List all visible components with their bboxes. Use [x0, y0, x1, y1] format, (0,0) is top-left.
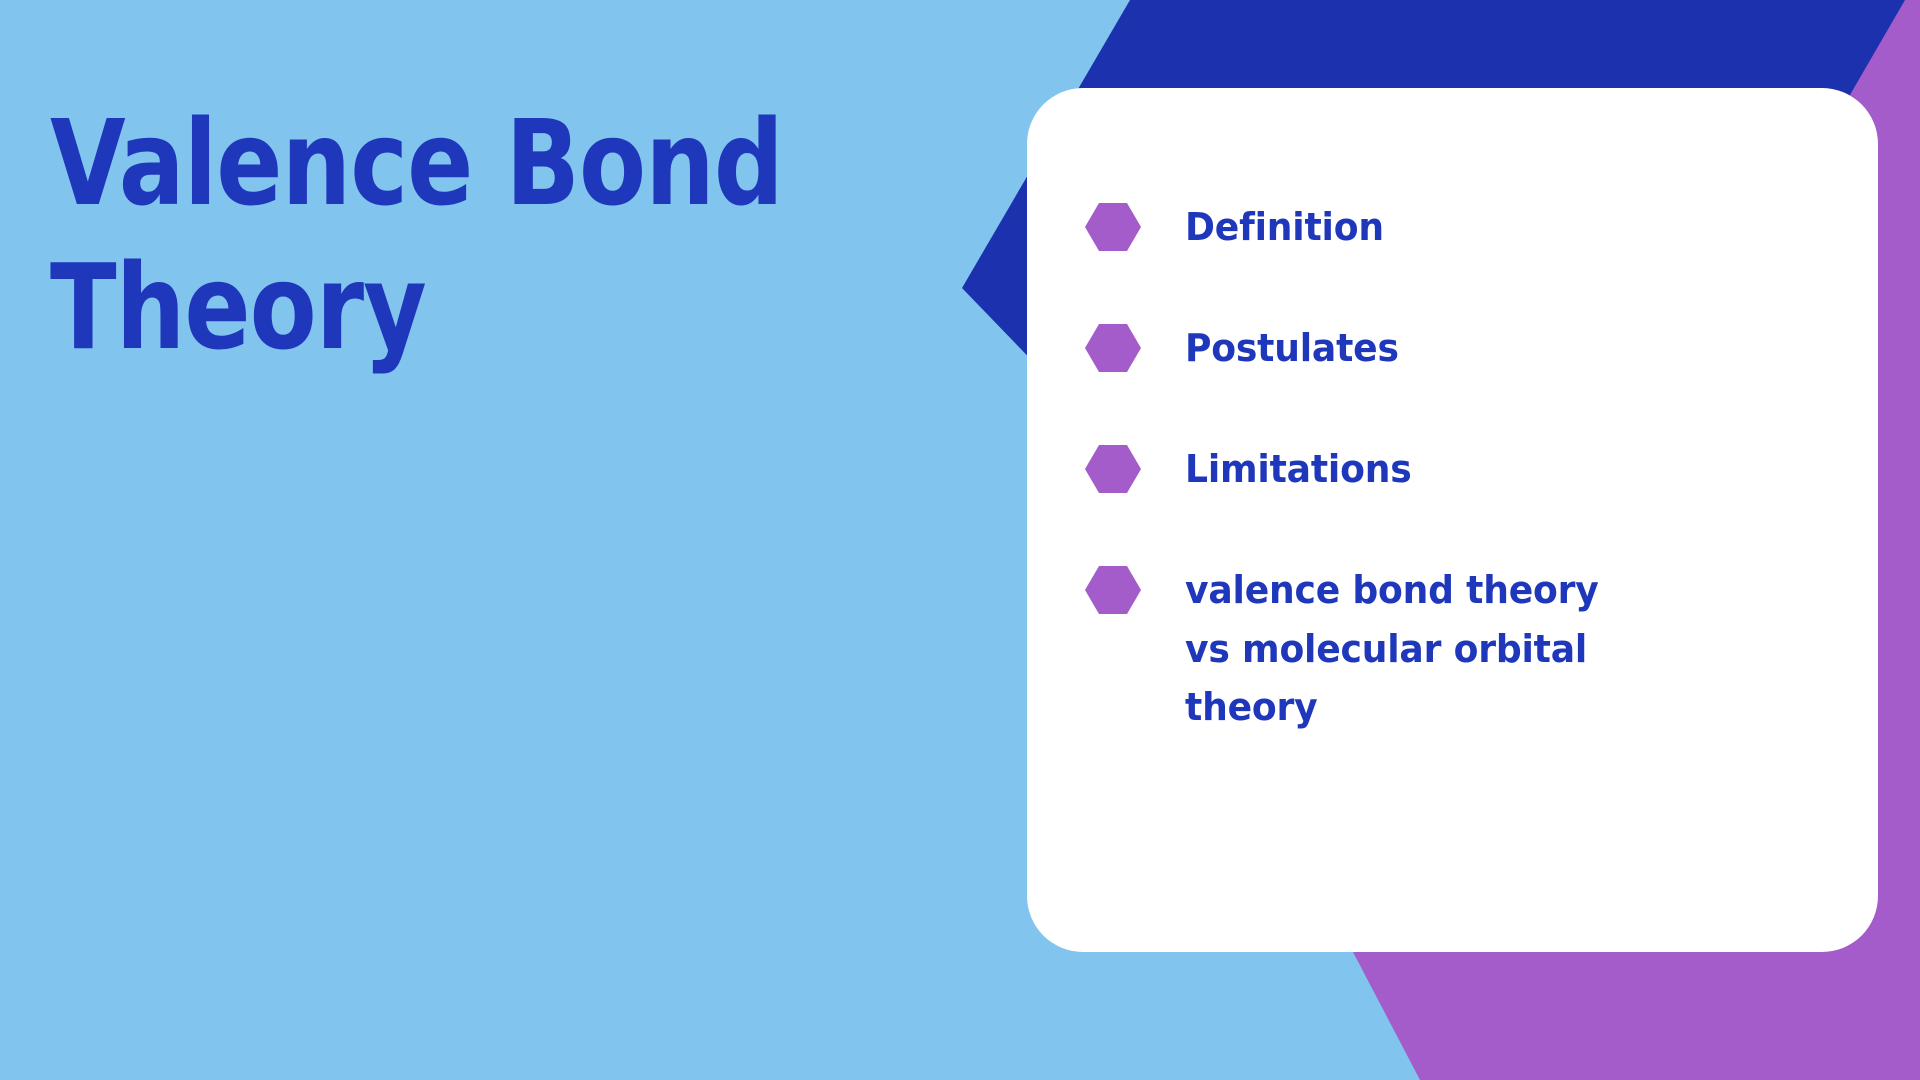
hexagon-bullet-icon — [1085, 202, 1141, 252]
topic-list: Definition Postulates Limitations — [1085, 198, 1838, 737]
list-item[interactable]: Definition — [1085, 198, 1838, 257]
list-item[interactable]: Limitations — [1085, 440, 1838, 499]
list-item-label: Postulates — [1185, 319, 1399, 378]
list-item[interactable]: Postulates — [1085, 319, 1838, 378]
list-item-label: Definition — [1185, 198, 1384, 257]
slide-root: Valence Bond Theory Definition Postulate… — [0, 0, 1920, 1080]
hexagon-bullet-icon — [1085, 565, 1141, 615]
hexagon-bullet-icon — [1085, 444, 1141, 494]
list-item[interactable]: valence bond theory vs molecular orbital… — [1085, 561, 1838, 738]
content-card: Definition Postulates Limitations — [1027, 88, 1878, 952]
list-item-label: Limitations — [1185, 440, 1412, 499]
list-item-label: valence bond theory vs molecular orbital… — [1185, 561, 1632, 738]
slide-title: Valence Bond Theory — [50, 92, 878, 380]
purple-hexagon-shape-lower — [1353, 952, 1920, 1080]
hexagon-bullet-icon — [1085, 323, 1141, 373]
